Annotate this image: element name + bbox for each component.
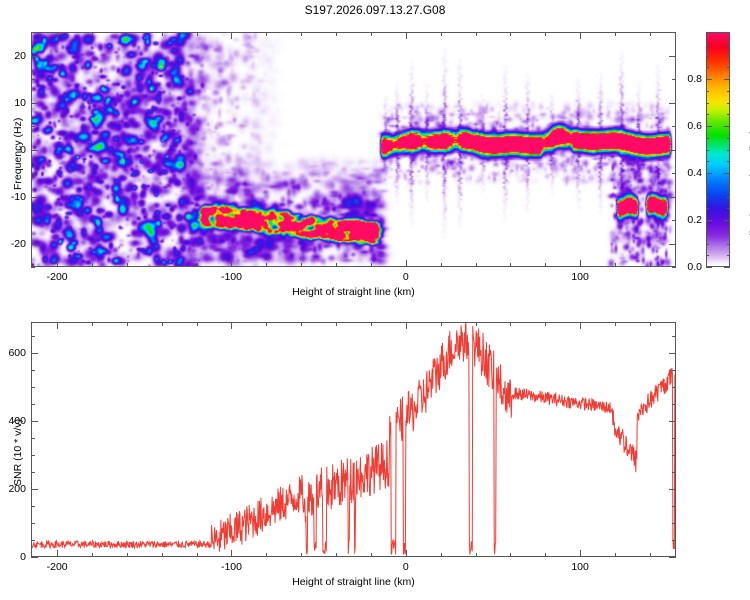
- axis-tick: [31, 557, 38, 558]
- snr-panel: [31, 322, 676, 557]
- axis-tick: [406, 550, 407, 557]
- axis-tick: [672, 387, 676, 388]
- axis-tick: [441, 553, 442, 557]
- axis-tick: [266, 553, 267, 557]
- axis-tick-label: -20: [0, 238, 26, 250]
- axis-tick: [197, 553, 198, 557]
- colorbar-tick: [727, 232, 730, 233]
- axis-tick: [476, 553, 477, 557]
- axis-tick: [162, 263, 163, 267]
- colorbar-tick-label: 0.4: [676, 167, 702, 179]
- axis-tick: [615, 32, 616, 36]
- axis-tick: [31, 472, 35, 473]
- axis-tick: [672, 472, 676, 473]
- axis-tick: [441, 32, 442, 36]
- axis-tick: [336, 263, 337, 267]
- axis-tick: [580, 32, 581, 39]
- axis-tick: [669, 103, 676, 104]
- axis-tick-label: -200: [47, 271, 68, 283]
- axis-tick-label: 0: [0, 551, 26, 563]
- axis-tick-label: 20: [0, 50, 26, 62]
- colorbar-tick: [706, 197, 709, 198]
- axis-tick: [672, 32, 676, 33]
- axis-tick: [57, 322, 58, 329]
- axis-tick: [162, 322, 163, 326]
- axis-tick: [31, 421, 38, 422]
- colorbar-tick: [706, 79, 712, 80]
- colorbar-tick: [724, 126, 730, 127]
- colorbar-tick-label: 0.8: [676, 73, 702, 85]
- colorbar-tick: [706, 244, 709, 245]
- colorbar-tick: [727, 56, 730, 57]
- axis-tick: [92, 263, 93, 267]
- axis-tick: [669, 421, 676, 422]
- axis-tick: [31, 220, 35, 221]
- axis-tick: [510, 553, 511, 557]
- axis-tick: [650, 322, 651, 326]
- axis-tick: [650, 263, 651, 267]
- axis-tick: [127, 322, 128, 326]
- axis-tick: [672, 540, 676, 541]
- axis-tick: [371, 553, 372, 557]
- axis-tick: [31, 438, 35, 439]
- axis-tick: [31, 150, 38, 151]
- figure-root: S197.2026.097.13.27.G08 -200-1000100-20-…: [0, 0, 750, 600]
- axis-tick: [669, 197, 676, 198]
- axis-tick: [31, 523, 35, 524]
- colorbar-tick-label: 0.2: [676, 214, 702, 226]
- colorbar-tick: [706, 126, 712, 127]
- colorbar-tick: [727, 114, 730, 115]
- colorbar-tick: [706, 44, 709, 45]
- axis-tick: [336, 553, 337, 557]
- colorbar-tick: [727, 91, 730, 92]
- axis-tick: [669, 353, 676, 354]
- axis-tick: [669, 557, 676, 558]
- axis-tick: [92, 32, 93, 36]
- colorbar-tick: [727, 185, 730, 186]
- axis-tick: [197, 263, 198, 267]
- axis-tick-label: 100: [571, 561, 589, 573]
- axis-tick: [31, 455, 35, 456]
- axis-tick: [127, 553, 128, 557]
- axis-tick: [31, 173, 35, 174]
- colorbar-tick: [706, 185, 709, 186]
- colorbar-tick-label: 0.0: [676, 261, 702, 273]
- axis-tick-label: 600: [0, 347, 26, 359]
- axis-tick: [441, 322, 442, 326]
- axis-tick: [669, 489, 676, 490]
- colorbar-tick: [727, 208, 730, 209]
- axis-tick-label: 10: [0, 97, 26, 109]
- axis-tick: [476, 322, 477, 326]
- axis-tick: [371, 263, 372, 267]
- axis-tick: [545, 553, 546, 557]
- axis-tick: [669, 56, 676, 57]
- colorbar-tick: [724, 79, 730, 80]
- colorbar-tick: [727, 103, 730, 104]
- axis-tick: [580, 260, 581, 267]
- axis-tick-label: -200: [47, 561, 68, 573]
- axis-tick: [31, 244, 38, 245]
- spectrogram-xlabel: Height of straight line (km): [292, 286, 415, 298]
- axis-tick: [580, 550, 581, 557]
- axis-tick: [580, 322, 581, 329]
- axis-tick: [31, 336, 35, 337]
- axis-tick: [672, 438, 676, 439]
- axis-tick: [510, 263, 511, 267]
- axis-tick: [406, 32, 407, 39]
- axis-tick: [672, 404, 676, 405]
- colorbar-tick: [706, 173, 712, 174]
- colorbar-tick: [724, 220, 730, 221]
- snr-ylabel: SNR (10 * v/v): [12, 418, 24, 485]
- axis-tick: [672, 336, 676, 337]
- axis-tick: [31, 32, 35, 33]
- colorbar-tick: [706, 114, 709, 115]
- axis-tick: [31, 370, 35, 371]
- colorbar-tick: [706, 67, 709, 68]
- figure-title: S197.2026.097.13.27.G08: [0, 3, 750, 17]
- colorbar-tick: [706, 150, 709, 151]
- axis-tick: [127, 263, 128, 267]
- axis-tick: [301, 322, 302, 326]
- colorbar-tick: [706, 161, 709, 162]
- axis-tick: [476, 263, 477, 267]
- axis-tick: [57, 550, 58, 557]
- axis-tick: [371, 32, 372, 36]
- axis-tick: [231, 32, 232, 39]
- axis-tick: [162, 32, 163, 36]
- axis-tick: [57, 260, 58, 267]
- axis-tick: [31, 126, 35, 127]
- axis-tick: [31, 404, 35, 405]
- colorbar-tick: [727, 244, 730, 245]
- colorbar-tick: [706, 32, 709, 33]
- axis-tick: [615, 322, 616, 326]
- colorbar-tick: [727, 255, 730, 256]
- axis-tick: [510, 32, 511, 36]
- axis-tick: [57, 32, 58, 39]
- axis-tick: [31, 353, 38, 354]
- axis-tick: [266, 322, 267, 326]
- axis-tick: [301, 553, 302, 557]
- axis-tick: [371, 322, 372, 326]
- axis-tick: [197, 32, 198, 36]
- axis-tick: [545, 32, 546, 36]
- axis-tick: [615, 553, 616, 557]
- axis-tick: [545, 263, 546, 267]
- snr-series-line: [32, 324, 676, 555]
- colorbar-tick: [727, 44, 730, 45]
- axis-tick-label: 0: [403, 561, 409, 573]
- axis-tick-label: 0: [403, 271, 409, 283]
- axis-tick: [31, 267, 35, 268]
- colorbar-tick: [727, 138, 730, 139]
- axis-tick: [162, 553, 163, 557]
- axis-tick: [31, 197, 38, 198]
- axis-tick-label: -10: [0, 191, 26, 203]
- axis-tick: [127, 32, 128, 36]
- axis-tick: [476, 32, 477, 36]
- colorbar-tick: [727, 67, 730, 68]
- axis-tick: [406, 260, 407, 267]
- colorbar-tick: [727, 161, 730, 162]
- colorbar-tick: [724, 173, 730, 174]
- axis-tick: [31, 103, 38, 104]
- axis-tick: [441, 263, 442, 267]
- axis-tick: [672, 523, 676, 524]
- colorbar-tick: [706, 103, 709, 104]
- axis-tick-label: -100: [221, 271, 242, 283]
- colorbar-tick: [727, 197, 730, 198]
- axis-tick: [650, 553, 651, 557]
- axis-tick: [92, 553, 93, 557]
- snr-xlabel: Height of straight line (km): [292, 576, 415, 588]
- axis-tick: [31, 540, 35, 541]
- axis-tick: [301, 263, 302, 267]
- spectrogram-ylabel: Frequency (Hz): [12, 117, 24, 189]
- axis-tick-label: -100: [221, 561, 242, 573]
- axis-tick: [672, 370, 676, 371]
- axis-tick: [615, 263, 616, 267]
- axis-tick: [92, 322, 93, 326]
- colorbar-tick: [706, 138, 709, 139]
- colorbar-tick: [706, 220, 712, 221]
- spectrogram-image: [32, 33, 675, 266]
- axis-tick: [301, 32, 302, 36]
- axis-tick: [650, 32, 651, 36]
- axis-tick: [672, 506, 676, 507]
- axis-tick: [545, 322, 546, 326]
- axis-tick: [197, 322, 198, 326]
- axis-tick: [336, 32, 337, 36]
- axis-tick: [266, 32, 267, 36]
- colorbar-tick-label: 0.6: [676, 120, 702, 132]
- axis-tick-label: 100: [571, 271, 589, 283]
- colorbar-tick: [706, 232, 709, 233]
- axis-tick: [231, 322, 232, 329]
- axis-tick: [31, 489, 38, 490]
- axis-tick: [406, 322, 407, 329]
- spectrogram-panel: [31, 32, 676, 267]
- axis-tick: [672, 455, 676, 456]
- axis-tick: [669, 150, 676, 151]
- colorbar-tick: [706, 208, 709, 209]
- colorbar-tick: [706, 255, 709, 256]
- colorbar-tick: [727, 32, 730, 33]
- colorbar-tick: [706, 91, 709, 92]
- axis-tick: [336, 322, 337, 326]
- axis-tick: [231, 550, 232, 557]
- colorbar-tick: [724, 267, 730, 268]
- axis-tick: [266, 263, 267, 267]
- colorbar-tick: [727, 150, 730, 151]
- axis-tick: [669, 244, 676, 245]
- axis-tick: [31, 387, 35, 388]
- colorbar-tick: [706, 56, 709, 57]
- axis-tick: [231, 260, 232, 267]
- axis-tick: [510, 322, 511, 326]
- axis-tick: [31, 506, 35, 507]
- colorbar-tick: [706, 267, 712, 268]
- axis-tick: [31, 56, 38, 57]
- snr-line-chart: [32, 323, 676, 557]
- axis-tick: [31, 79, 35, 80]
